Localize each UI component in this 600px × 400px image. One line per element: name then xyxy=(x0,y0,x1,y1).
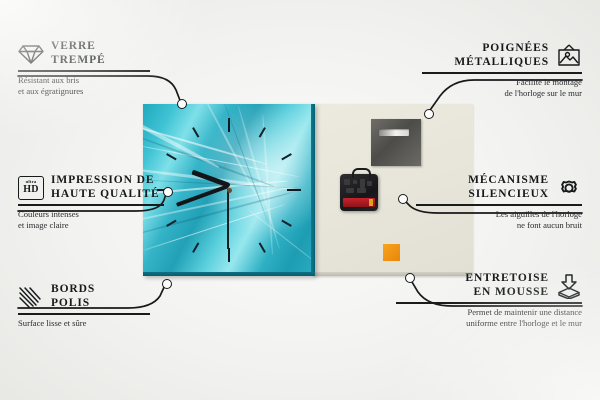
leader-dot-verre-trempe xyxy=(177,99,187,109)
foam-spacer-arrow-icon xyxy=(556,273,582,299)
callout-subtitle-line1: Permet de maintenir une distance xyxy=(387,307,582,318)
callout-subtitle-line1: Surface lisse et sûre xyxy=(18,318,168,329)
callout-header: ENTRETOISE EN MOUSSE xyxy=(387,272,582,299)
diagonal-stripes-icon xyxy=(18,286,44,308)
callout-title: POIGNÉES MÉTALLIQUES xyxy=(454,42,549,69)
callout-divider xyxy=(396,302,582,304)
callout-divider xyxy=(18,204,164,206)
callout-divider xyxy=(416,204,582,206)
callout-verre-trempe: VERRE TREMPÉ Résistant aux bris et aux é… xyxy=(18,40,168,96)
callout-poignees-metalliques: POIGNÉES MÉTALLIQUES Facilite le montage… xyxy=(412,42,582,98)
callout-entretoise-en-mousse: ENTRETOISE EN MOUSSE Permet de maintenir… xyxy=(387,272,582,328)
callout-divider xyxy=(18,313,150,315)
mechanism-detail xyxy=(344,179,374,195)
callout-subtitle-line2: et image claire xyxy=(18,220,186,231)
clock-mechanism xyxy=(340,174,378,211)
callout-header: POIGNÉES MÉTALLIQUES xyxy=(412,42,582,69)
callout-subtitle-line2: de l'horloge sur le mur xyxy=(412,88,582,99)
battery xyxy=(343,198,375,207)
clock-second-hand xyxy=(228,189,230,249)
hanger-plate-slot xyxy=(379,129,409,136)
callout-divider xyxy=(18,70,150,72)
callout-subtitle-line1: Couleurs intenses xyxy=(18,209,186,220)
infographic-canvas: VERRE TREMPÉ Résistant aux bris et aux é… xyxy=(0,0,600,400)
callout-title: ENTRETOISE EN MOUSSE xyxy=(465,272,549,299)
callout-title: IMPRESSION DE HAUTE QUALITÉ xyxy=(51,174,160,201)
callout-subtitle-line2: uniforme entre l'horloge et le mur xyxy=(387,318,582,329)
callout-subtitle-line2: et aux égratignures xyxy=(18,86,168,97)
callout-subtitle-line1: Les aiguilles de l'horloge xyxy=(407,209,582,220)
ultra-hd-icon: ultra HD xyxy=(18,176,44,200)
mechanism-hanger-loop xyxy=(352,168,371,178)
callout-title: MÉCANISME SILENCIEUX xyxy=(468,174,549,201)
ultra-hd-icon-large-text: HD xyxy=(23,185,39,195)
callout-subtitle-line2: ne font aucun bruit xyxy=(407,220,582,231)
callout-header: BORDS POLIS xyxy=(18,283,168,310)
callout-subtitle-line1: Résistant aux bris xyxy=(18,75,168,86)
callout-bords-polis: BORDS POLIS Surface lisse et sûre xyxy=(18,283,168,329)
foam-spacer xyxy=(383,244,400,261)
clock-front-panel-side xyxy=(311,104,315,276)
diamond-icon xyxy=(18,43,44,65)
leader-dot-poignees xyxy=(424,109,434,119)
callout-header: ultra HD IMPRESSION DE HAUTE QUALITÉ xyxy=(18,174,186,201)
callout-header: MÉCANISME SILENCIEUX xyxy=(407,174,582,201)
callout-subtitle-line1: Facilite le montage xyxy=(412,77,582,88)
callout-impression-haute-qualite: ultra HD IMPRESSION DE HAUTE QUALITÉ Cou… xyxy=(18,174,186,230)
hanger-plate xyxy=(371,119,421,166)
callout-divider xyxy=(422,72,582,74)
callout-mecanisme-silencieux: MÉCANISME SILENCIEUX Les aiguilles de l'… xyxy=(407,174,582,230)
clock-center-pin xyxy=(227,188,232,193)
gear-icon xyxy=(556,175,582,201)
clock-front-panel-edge xyxy=(143,272,315,276)
callout-title: VERRE TREMPÉ xyxy=(51,40,106,67)
callout-header: VERRE TREMPÉ xyxy=(18,40,168,67)
callout-title: BORDS POLIS xyxy=(51,283,95,310)
picture-frame-hanging-icon xyxy=(556,44,582,68)
